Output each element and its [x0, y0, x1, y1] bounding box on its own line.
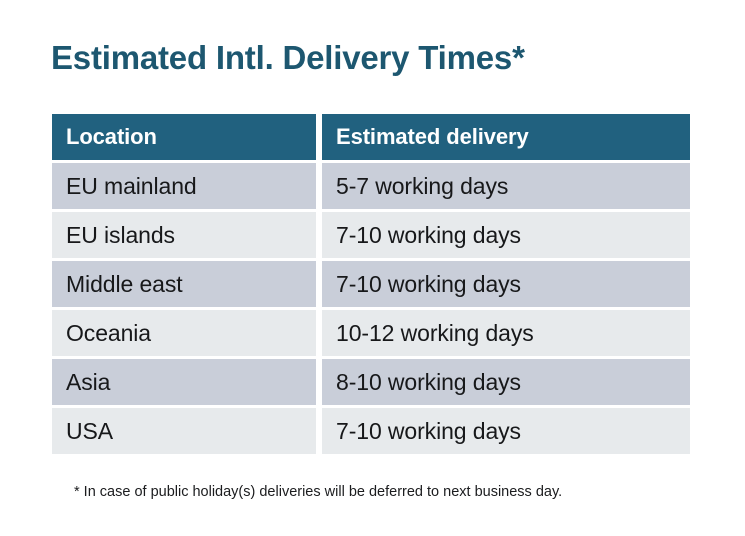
- cell-location: Middle east: [52, 261, 316, 307]
- cell-location: Asia: [52, 359, 316, 405]
- cell-estimated-delivery: 7-10 working days: [322, 408, 690, 454]
- page-title: Estimated Intl. Delivery Times*: [51, 36, 525, 80]
- table-row: Middle east 7-10 working days: [52, 261, 690, 307]
- cell-estimated-delivery: 10-12 working days: [322, 310, 690, 356]
- cell-location: Oceania: [52, 310, 316, 356]
- cell-estimated-delivery: 7-10 working days: [322, 212, 690, 258]
- footnote-public-holiday-notice: * In case of public holiday(s) deliverie…: [74, 482, 562, 502]
- table-row: EU mainland 5-7 working days: [52, 163, 690, 209]
- table-row: Asia 8-10 working days: [52, 359, 690, 405]
- cell-estimated-delivery: 7-10 working days: [322, 261, 690, 307]
- estimated-delivery-times-table: Location Estimated delivery EU mainland …: [52, 114, 690, 454]
- cell-estimated-delivery: 8-10 working days: [322, 359, 690, 405]
- table-row: EU islands 7-10 working days: [52, 212, 690, 258]
- delivery-times-card: Estimated Intl. Delivery Times* Location…: [0, 0, 745, 536]
- cell-location: EU islands: [52, 212, 316, 258]
- table-header-row: Location Estimated delivery: [52, 114, 690, 160]
- cell-location: EU mainland: [52, 163, 316, 209]
- table-row: Oceania 10-12 working days: [52, 310, 690, 356]
- column-header-location: Location: [52, 114, 316, 160]
- cell-estimated-delivery: 5-7 working days: [322, 163, 690, 209]
- table-row: USA 7-10 working days: [52, 408, 690, 454]
- cell-location: USA: [52, 408, 316, 454]
- column-header-estimated-delivery: Estimated delivery: [322, 114, 690, 160]
